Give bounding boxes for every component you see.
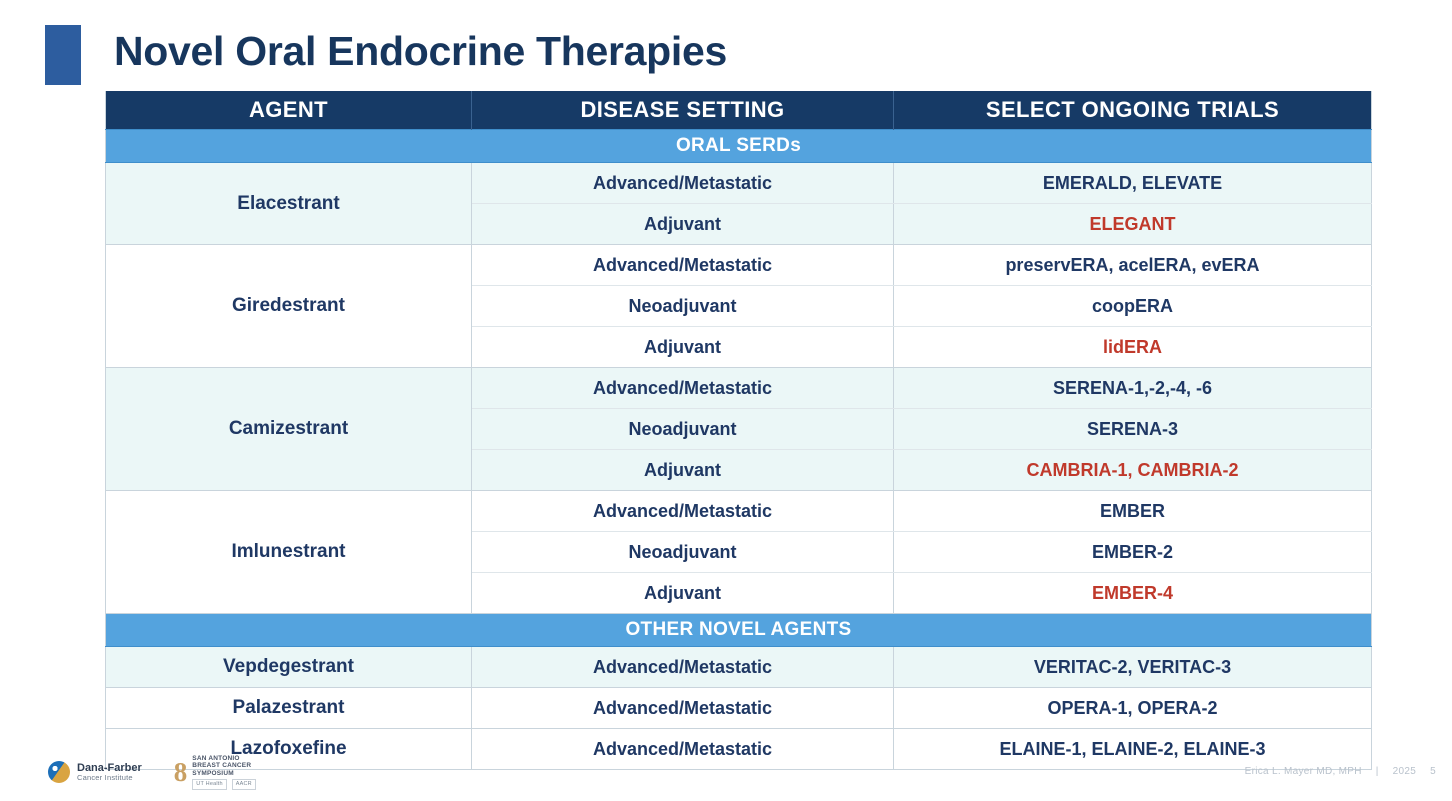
ongoing-trials-cell: EMBER-2 [894,532,1372,573]
credit-separator: | [1376,766,1379,777]
disease-setting-cell: Advanced/Metastatic [472,368,894,409]
sabcs-badge-uthealth: UT Health [192,779,226,789]
ongoing-trials-cell: EMERALD, ELEVATE [894,163,1372,204]
column-header-agent: AGENT [106,91,472,130]
column-header-trials: SELECT ONGOING TRIALS [894,91,1372,130]
sabcs-line-2: BREAST CANCER [192,762,256,769]
agent-name-cell: Camizestrant [106,368,472,491]
table-row: ElacestrantAdvanced/MetastaticEMERALD, E… [106,163,1372,204]
agent-name-cell: Elacestrant [106,163,472,245]
ongoing-trials-cell: VERITAC-2, VERITAC-3 [894,647,1372,688]
column-header-setting: DISEASE SETTING [472,91,894,130]
table-body: ORAL SERDsElacestrantAdvanced/Metastatic… [106,130,1372,770]
section-band-row: OTHER NOVEL AGENTS [106,614,1372,647]
section-band-label: OTHER NOVEL AGENTS [106,614,1372,647]
sabcs-wordmark: SAN ANTONIO BREAST CANCER SYMPOSIUM UT H… [192,755,256,790]
disease-setting-cell: Advanced/Metastatic [472,163,894,204]
ongoing-trials-cell: lidERA [894,327,1372,368]
disease-setting-cell: Advanced/Metastatic [472,688,894,729]
agent-name-cell: Imlunestrant [106,491,472,614]
disease-setting-cell: Adjuvant [472,450,894,491]
therapy-table: AGENT DISEASE SETTING SELECT ONGOING TRI… [105,91,1372,770]
sabcs-line-3: SYMPOSIUM [192,770,256,777]
ongoing-trials-cell: EMBER [894,491,1372,532]
agent-name-cell: Giredestrant [106,245,472,368]
ongoing-trials-cell: preservERA, acelERA, evERA [894,245,1372,286]
sabcs-partner-badges: UT Health AACR [192,779,256,789]
page-title: Novel Oral Endocrine Therapies [114,20,727,82]
sabcs-logo: 8 SAN ANTONIO BREAST CANCER SYMPOSIUM UT… [174,755,256,790]
table-header-row: AGENT DISEASE SETTING SELECT ONGOING TRI… [106,91,1372,130]
presenter-name: Erica L. Mayer MD, MPH [1245,766,1362,777]
slide-footer: Dana-Farber Cancer Institute 8 SAN ANTON… [0,750,1452,801]
ongoing-trials-cell: SERENA-1,-2,-4, -6 [894,368,1372,409]
dana-farber-subtitle: Cancer Institute [77,774,142,782]
ongoing-trials-cell: EMBER-4 [894,573,1372,614]
footer-logos: Dana-Farber Cancer Institute 8 SAN ANTON… [48,755,256,790]
slide-number: 5 [1430,766,1436,777]
ongoing-trials-cell: CAMBRIA-1, CAMBRIA-2 [894,450,1372,491]
disease-setting-cell: Neoadjuvant [472,532,894,573]
title-block: Novel Oral Endocrine Therapies [0,20,1452,92]
ongoing-trials-cell: SERENA-3 [894,409,1372,450]
dana-farber-wordmark: Dana-Farber Cancer Institute [77,763,142,782]
dana-farber-globe-icon [48,761,70,783]
table-row: ImlunestrantAdvanced/MetastaticEMBER [106,491,1372,532]
disease-setting-cell: Adjuvant [472,204,894,245]
disease-setting-cell: Adjuvant [472,573,894,614]
ongoing-trials-cell: OPERA-1, OPERA-2 [894,688,1372,729]
table-row: VepdegestrantAdvanced/MetastaticVERITAC-… [106,647,1372,688]
title-accent-bar [45,25,81,85]
table-head: AGENT DISEASE SETTING SELECT ONGOING TRI… [106,91,1372,130]
dana-farber-logo: Dana-Farber Cancer Institute [48,761,142,783]
disease-setting-cell: Advanced/Metastatic [472,245,894,286]
footer-credit: Erica L. Mayer MD, MPH | 2025 5 [1245,766,1436,777]
section-band-row: ORAL SERDs [106,130,1372,163]
disease-setting-cell: Adjuvant [472,327,894,368]
sabcs-line-1: SAN ANTONIO [192,755,256,762]
agent-name-cell: Palazestrant [106,688,472,729]
disease-setting-cell: Advanced/Metastatic [472,491,894,532]
table-row: GiredestrantAdvanced/MetastaticpreservER… [106,245,1372,286]
section-band-label: ORAL SERDs [106,130,1372,163]
agent-name-cell: Vepdegestrant [106,647,472,688]
ongoing-trials-cell: coopERA [894,286,1372,327]
sabcs-anniversary-mark: 8 [174,759,188,786]
ongoing-trials-cell: ELEGANT [894,204,1372,245]
sabcs-badge-aacr: AACR [232,779,256,789]
table-row: PalazestrantAdvanced/MetastaticOPERA-1, … [106,688,1372,729]
table-row: CamizestrantAdvanced/MetastaticSERENA-1,… [106,368,1372,409]
disease-setting-cell: Advanced/Metastatic [472,647,894,688]
disease-setting-cell: Neoadjuvant [472,409,894,450]
presentation-year: 2025 [1393,766,1416,777]
disease-setting-cell: Neoadjuvant [472,286,894,327]
